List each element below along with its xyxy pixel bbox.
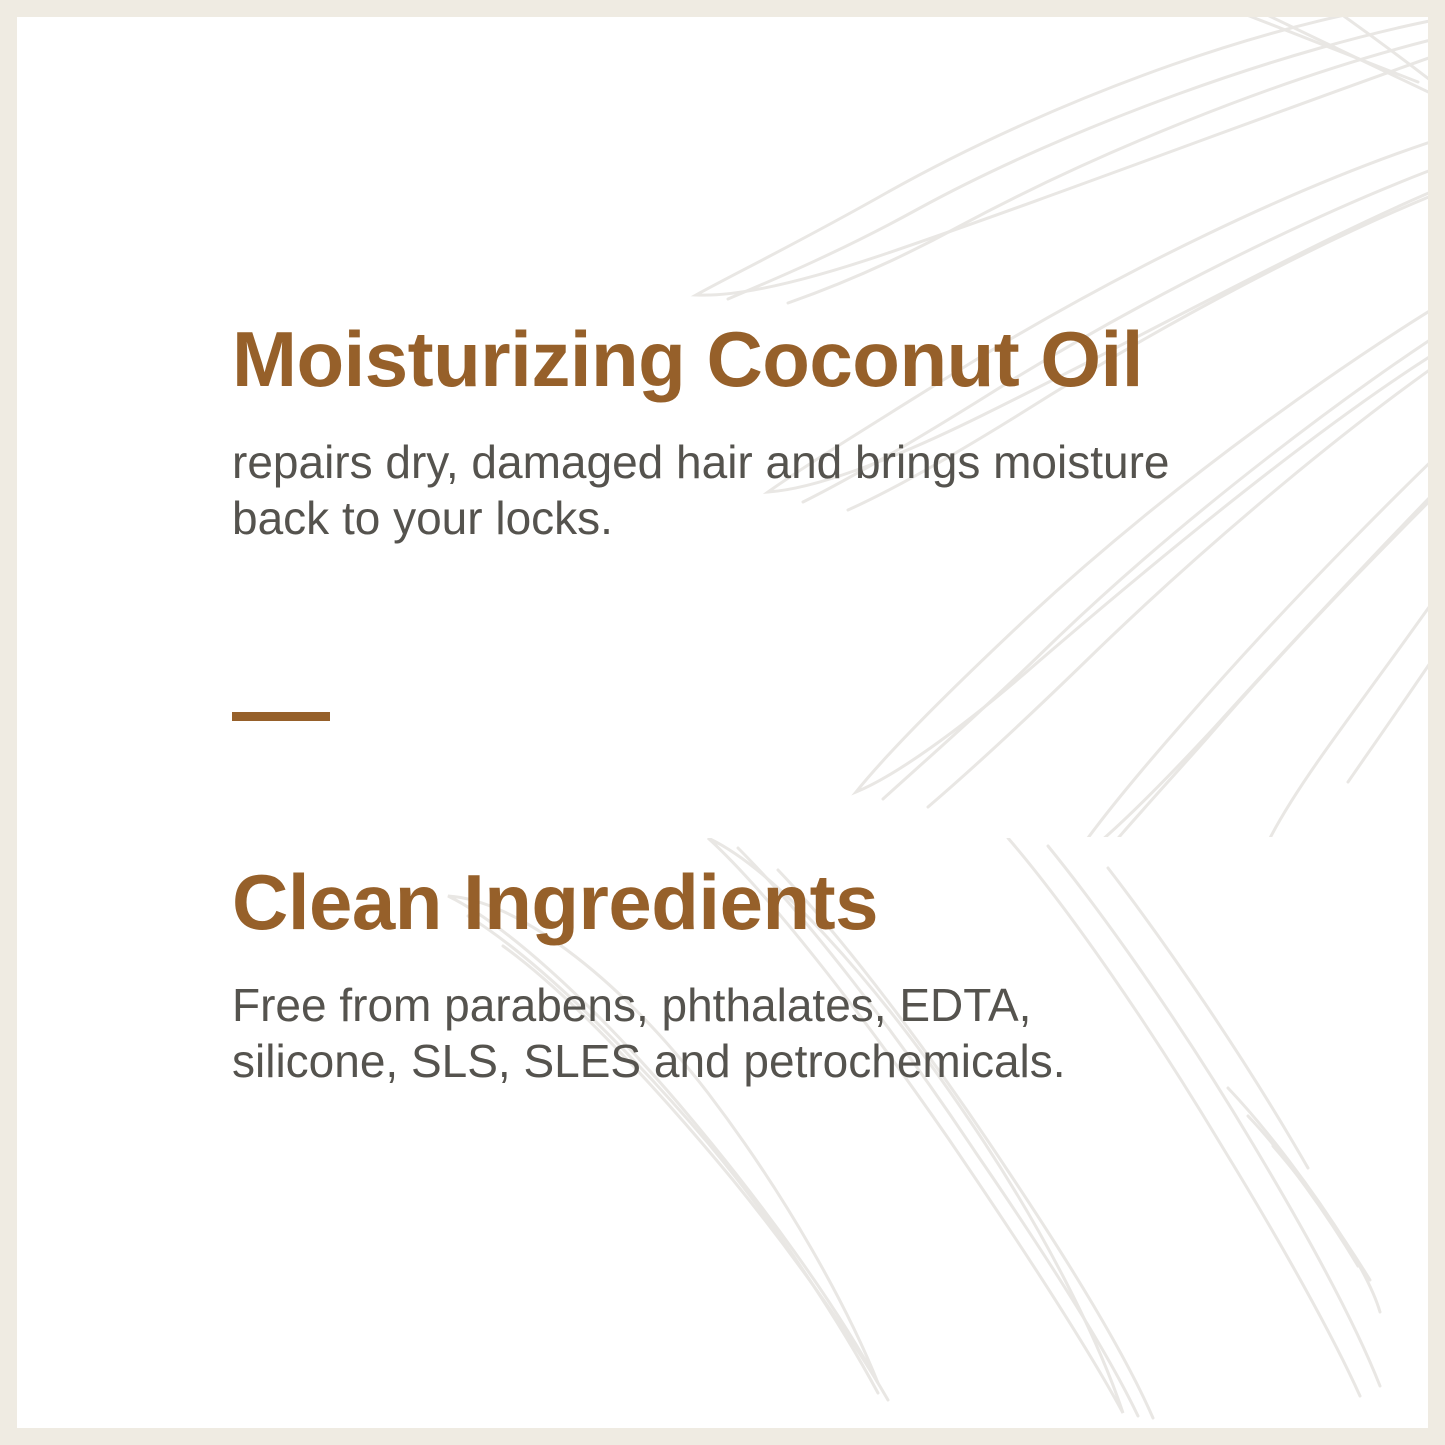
feature-block-coconut-oil: Moisturizing Coconut Oil repairs dry, da… <box>232 320 1232 546</box>
content-column: Moisturizing Coconut Oil repairs dry, da… <box>232 17 1282 1428</box>
feature-body-clean-ingredients: Free from parabens, phthalates, EDTA, si… <box>232 977 1192 1089</box>
feature-block-clean-ingredients: Clean Ingredients Free from parabens, ph… <box>232 863 1232 1089</box>
white-panel: Moisturizing Coconut Oil repairs dry, da… <box>17 17 1428 1428</box>
product-benefits-card: Moisturizing Coconut Oil repairs dry, da… <box>0 0 1445 1445</box>
section-divider-rule <box>232 712 330 721</box>
feature-body-coconut-oil: repairs dry, damaged hair and brings moi… <box>232 434 1192 546</box>
feature-heading-clean-ingredients: Clean Ingredients <box>232 863 1232 941</box>
feature-heading-coconut-oil: Moisturizing Coconut Oil <box>232 320 1232 398</box>
